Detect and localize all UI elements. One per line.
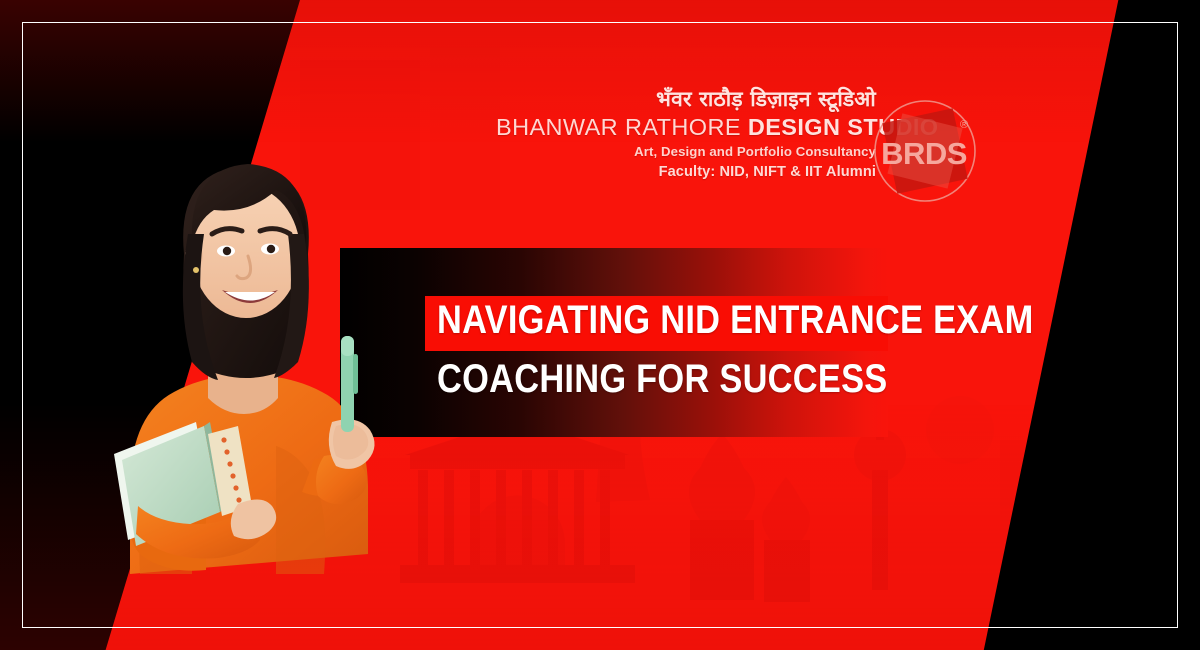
brand-hindi-name: भँवर राठौड़ डिज़ाइन स्टूडिओ: [496, 86, 876, 112]
brand-faculty-line: Faculty: NID, NIFT & IIT Alumni: [496, 162, 876, 183]
logo-registered-symbol: ®: [960, 119, 968, 131]
logo-mark-text: BRDS: [881, 136, 967, 171]
headline-text: NAVIGATING NID ENTRANCE EXAM COACHING FO…: [437, 290, 957, 408]
headline-line-2: COACHING FOR SUCCESS: [437, 351, 884, 408]
brand-tagline: Art, Design and Portfolio Consultancy: [496, 142, 876, 162]
brand-name: BHANWAR RATHORE DESIGN STUDIO: [496, 112, 876, 142]
brand-name-light: BHANWAR RATHORE: [496, 114, 748, 140]
student-photo: [88, 104, 400, 574]
brand-lockup: भँवर राठौड़ डिज़ाइन स्टूडिओ BHANWAR RATH…: [496, 86, 876, 183]
brds-logo: BRDS ®: [872, 98, 978, 204]
headline-line-1: NAVIGATING NID ENTRANCE EXAM: [437, 290, 884, 351]
promo-banner: भँवर राठौड़ डिज़ाइन स्टूडिओ BHANWAR RATH…: [0, 0, 1200, 650]
